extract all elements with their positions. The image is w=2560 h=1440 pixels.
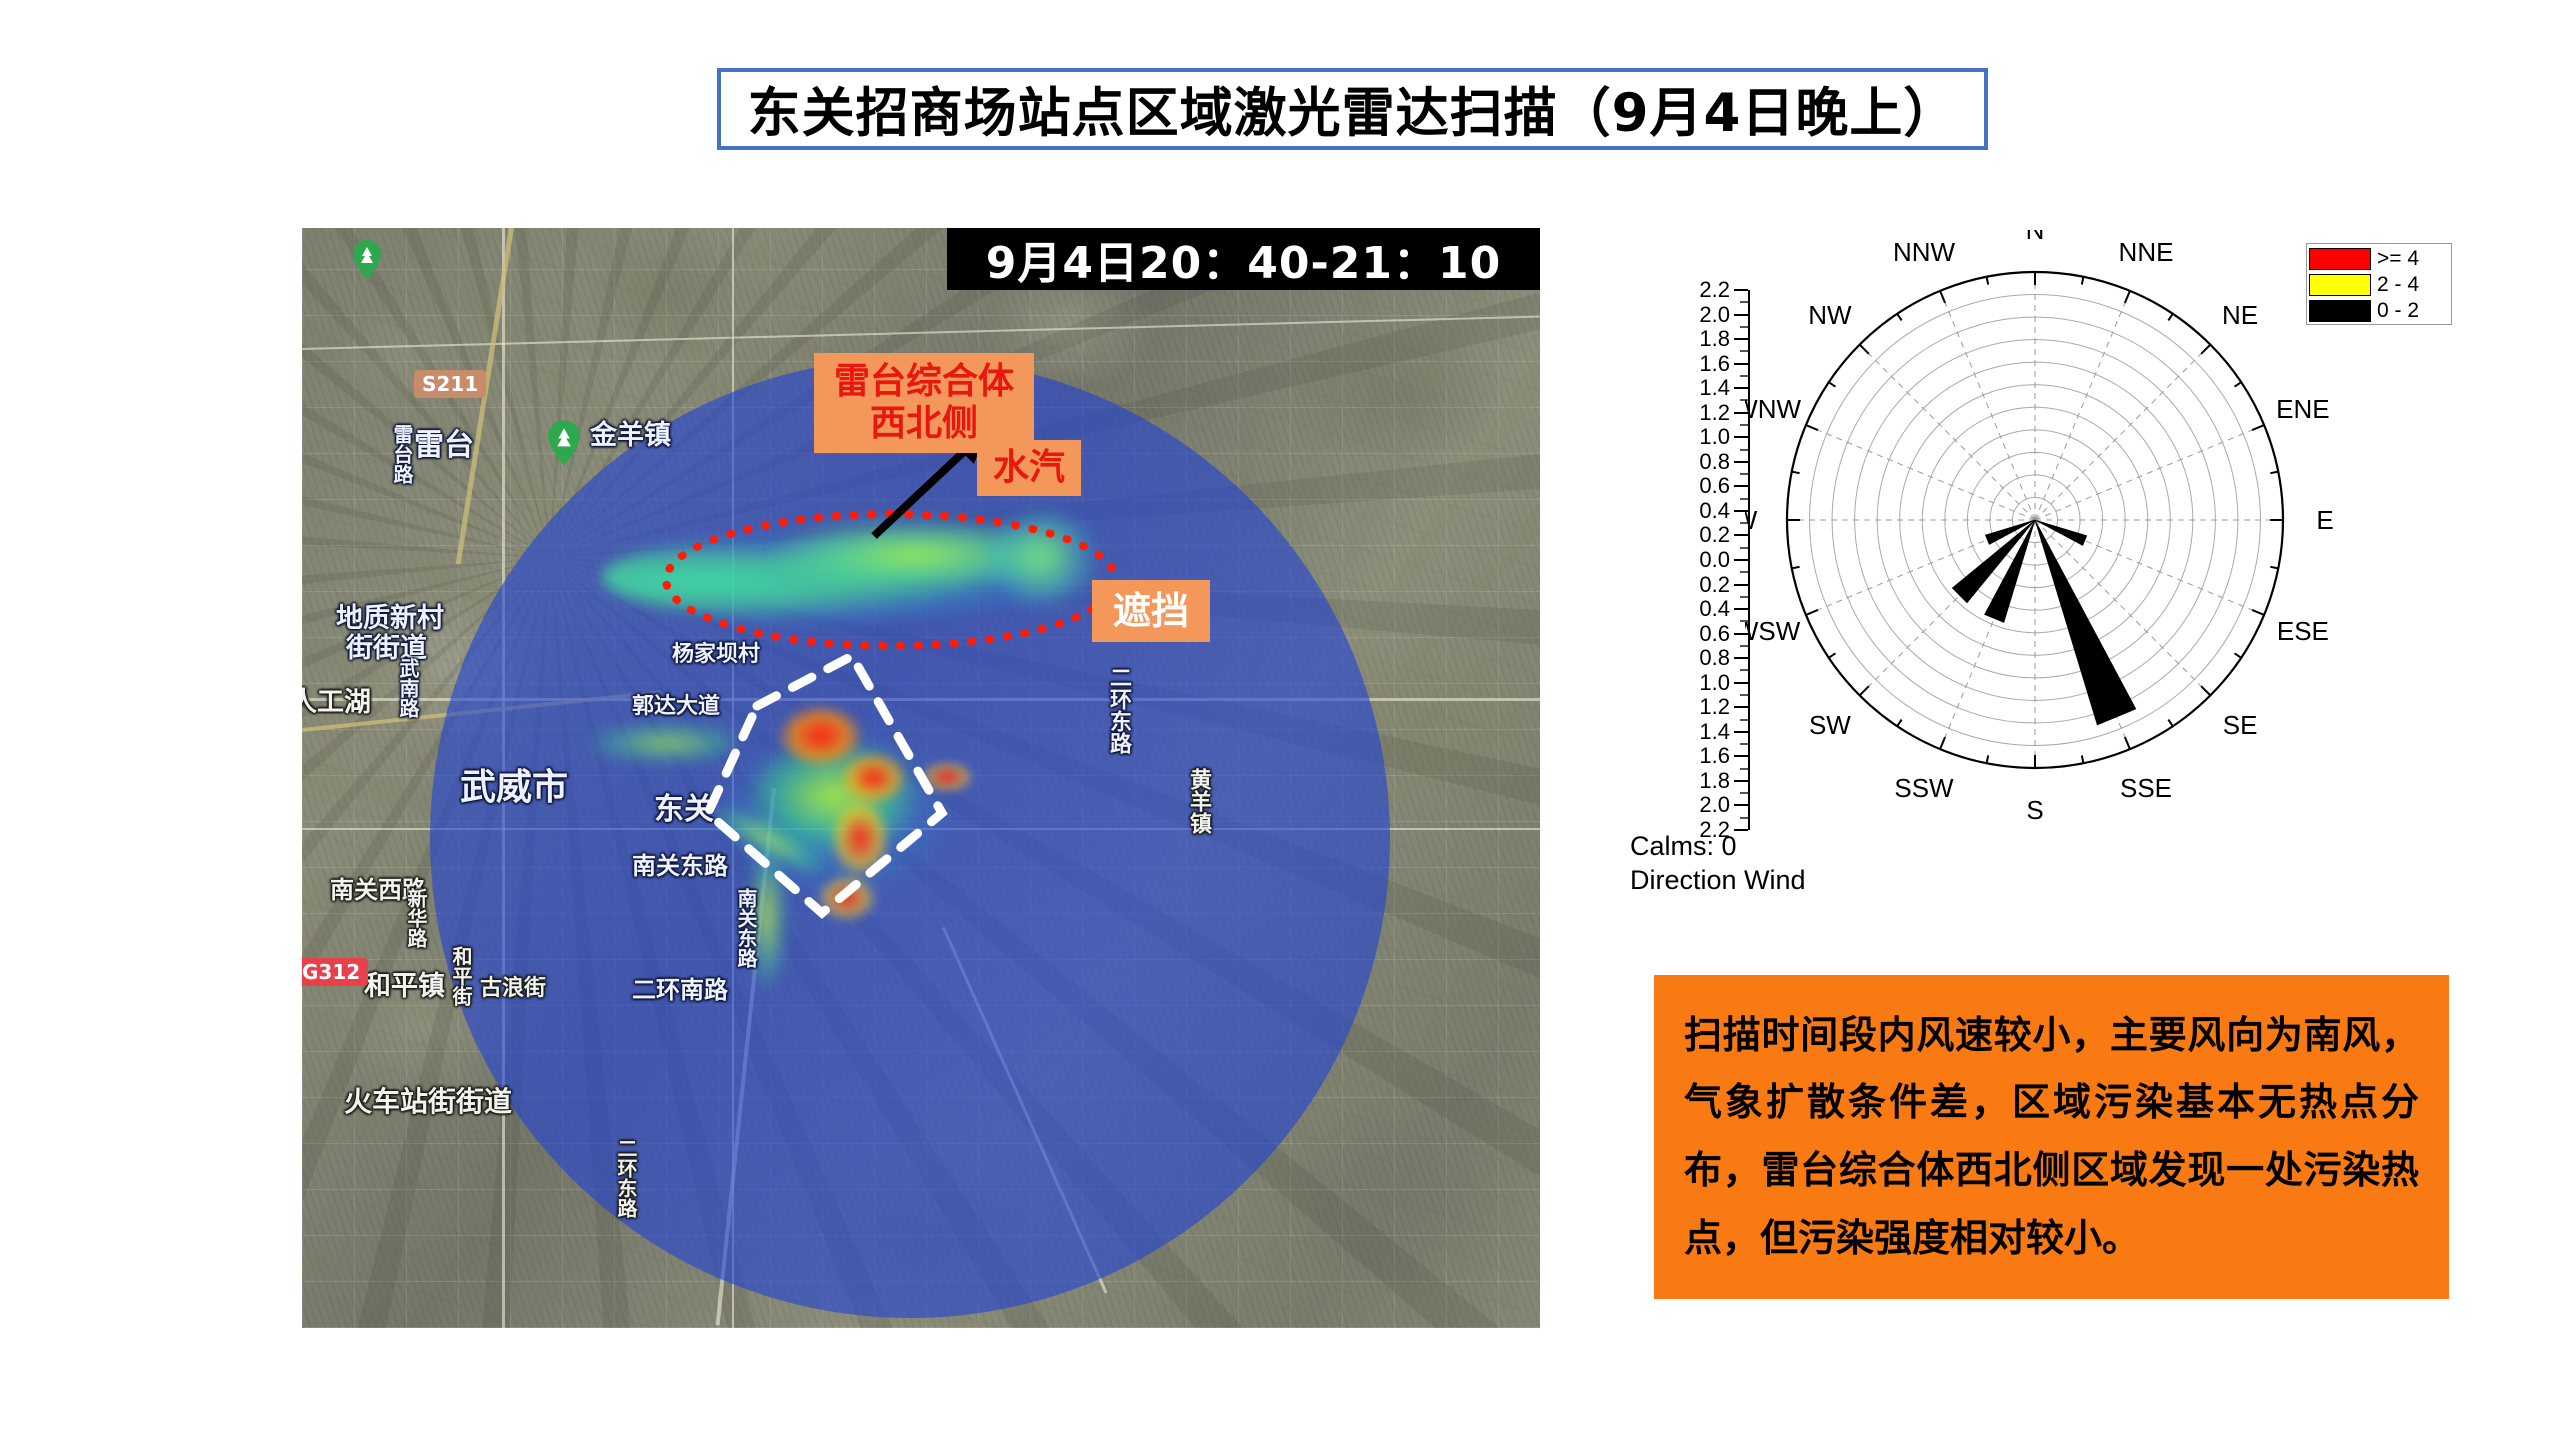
- wind-rose-outer-tick: [2082, 755, 2084, 763]
- compass-label-w: W: [1745, 505, 1758, 535]
- compass-label-sse: SSE: [2120, 773, 2172, 803]
- wind-rose-outer-tick: [1897, 720, 1901, 727]
- radial-axis-tick-label: 0.6: [1660, 621, 1730, 647]
- compass-label-ne: NE: [2222, 300, 2258, 330]
- compass-label-nne: NNE: [2119, 237, 2174, 267]
- wind-rose-outer-tick: [2235, 653, 2242, 657]
- compass-label-se: SE: [2223, 710, 2258, 740]
- wind-rose-outer-tick: [1806, 425, 1818, 430]
- wind-rose-outer-tick: [1792, 472, 1800, 474]
- wind-rose-outer-tick: [2125, 737, 2130, 749]
- compass-label-ene: ENE: [2276, 394, 2329, 424]
- callout-leitai-line2: 西北侧: [870, 403, 978, 445]
- conclusion-text: 扫描时间段内风速较小，主要风向为南风，气象扩散条件差，区域污染基本无热点分布，雷…: [1684, 1002, 2419, 1273]
- page-title: 东关招商场站点区域激光雷达扫描（9月4日晚上）: [748, 71, 1958, 147]
- radial-axis-tick-label: 1.2: [1660, 694, 1730, 720]
- obstruction-annotation-polygon: [702, 628, 982, 928]
- radial-axis-tick-label: 1.8: [1660, 326, 1730, 352]
- radial-axis-tick-label: 0.0: [1660, 547, 1730, 573]
- map-route-shield: S211: [414, 370, 486, 398]
- wind-rose-outer-tick: [1897, 314, 1901, 321]
- callout-leitai-line1: 雷台综合体: [834, 361, 1014, 403]
- wind-rose-outer-tick: [2270, 567, 2278, 569]
- wind-rose-outer-tick: [1940, 737, 1945, 749]
- legend-label: 2 - 4: [2377, 273, 2419, 297]
- compass-label-wnw: WNW: [1745, 394, 1801, 424]
- radial-axis-tick-label: 2.2: [1660, 277, 1730, 303]
- wind-rose-outer-tick: [1860, 686, 1869, 695]
- wind-speed-legend: >= 42 - 40 - 2: [2306, 243, 2452, 325]
- compass-label-e: E: [2316, 505, 2333, 535]
- compass-label-s: S: [2026, 795, 2043, 825]
- compass-label-sw: SW: [1809, 710, 1851, 740]
- compass-label-n: N: [2026, 230, 2045, 245]
- legend-label: 0 - 2: [2377, 299, 2419, 323]
- wind-rose-outer-tick: [1829, 382, 1836, 386]
- radial-axis-tick-label: 0.4: [1660, 498, 1730, 524]
- radial-axis-tick-label: 0.6: [1660, 473, 1730, 499]
- legend-color-swatch: [2309, 274, 2371, 296]
- radial-axis-tick-label: 1.6: [1660, 743, 1730, 769]
- compass-label-ese: ESE: [2277, 616, 2329, 646]
- wind-rose-spoke: [1940, 291, 2035, 520]
- legend-item: 0 - 2: [2309, 298, 2449, 324]
- radial-axis-tick-label: 0.2: [1660, 572, 1730, 598]
- wind-rose-outer-tick: [2201, 345, 2210, 354]
- legend-color-swatch: [2309, 300, 2371, 322]
- wind-rose-footnotes: Calms: 0 Direction Wind: [1630, 830, 1806, 898]
- direction-wind-label: Direction Wind: [1630, 864, 1806, 898]
- wind-rose-spoke: [2035, 345, 2210, 520]
- legend-item: 2 - 4: [2309, 272, 2449, 298]
- wind-rose-outer-tick: [2235, 382, 2242, 386]
- radial-axis-tick-label: 1.6: [1660, 351, 1730, 377]
- park-pin-icon: [352, 240, 382, 280]
- wind-rose-outer-tick: [2201, 686, 2210, 695]
- radial-axis-tick-label: 0.2: [1660, 522, 1730, 548]
- wind-rose-outer-tick: [1860, 345, 1869, 354]
- wind-rose-outer-tick: [2125, 291, 2130, 303]
- scan-timestamp-banner: 9月4日20：40-21：10: [947, 228, 1540, 290]
- wind-rose-outer-tick: [2252, 610, 2264, 615]
- wind-rose-petal-sse: [2035, 520, 2136, 725]
- wind-rose-outer-tick: [1987, 277, 1989, 285]
- callout-obstruction: 遮挡: [1092, 580, 1210, 642]
- wind-rose-outer-tick: [2270, 472, 2278, 474]
- callout-water-vapor-label: 水汽: [993, 447, 1065, 489]
- wind-rose-outer-tick: [2168, 720, 2172, 727]
- wind-rose-spoke: [2035, 520, 2210, 695]
- legend-color-swatch: [2309, 248, 2371, 270]
- legend-label: >= 4: [2377, 247, 2419, 271]
- callout-obstruction-label: 遮挡: [1113, 589, 1189, 634]
- calms-label: Calms: 0: [1630, 830, 1806, 864]
- compass-label-wsw: WSW: [1745, 616, 1801, 646]
- wind-rose-spoke: [1860, 345, 2035, 520]
- radial-axis-tick-label: 0.4: [1660, 596, 1730, 622]
- wind-rose-outer-tick: [2252, 425, 2264, 430]
- conclusion-box: 扫描时间段内风速较小，主要风向为南风，气象扩散条件差，区域污染基本无热点分布，雷…: [1654, 975, 2449, 1299]
- wind-rose-spoke: [1806, 425, 2035, 520]
- wind-rose-outer-tick: [1987, 755, 1989, 763]
- wind-rose-outer-tick: [1940, 291, 1945, 303]
- wind-rose-spoke: [2035, 291, 2130, 520]
- radial-axis-tick-label: 0.8: [1660, 449, 1730, 475]
- map-route-shield: G312: [302, 958, 368, 986]
- callout-water-vapor: 水汽: [977, 440, 1081, 496]
- radial-axis-tick-label: 2.0: [1660, 792, 1730, 818]
- compass-label-nnw: NNW: [1893, 237, 1956, 267]
- compass-label-nw: NW: [1808, 300, 1852, 330]
- radial-axis-tick-label: 1.0: [1660, 670, 1730, 696]
- wind-rose-panel: 2.22.01.81.61.41.21.00.80.60.40.20.00.20…: [1630, 230, 2510, 930]
- compass-label-ssw: SSW: [1894, 773, 1954, 803]
- wind-rose-outer-tick: [1806, 610, 1818, 615]
- radial-axis-tick-label: 1.2: [1660, 400, 1730, 426]
- wind-rose-spoke: [2035, 425, 2264, 520]
- radial-axis-tick-label: 2.0: [1660, 302, 1730, 328]
- wind-rose-outer-tick: [1829, 653, 1836, 657]
- legend-item: >= 4: [2309, 246, 2449, 272]
- callout-leitai-northwest: 雷台综合体 西北侧: [814, 353, 1034, 453]
- wind-rose-outer-tick: [1792, 567, 1800, 569]
- radial-axis-tick-label: 1.4: [1660, 719, 1730, 745]
- radial-axis-tick-label: 0.8: [1660, 645, 1730, 671]
- wind-rose-outer-tick: [2168, 314, 2172, 321]
- park-pin-icon: [547, 420, 581, 466]
- radial-axis-tick-label: 1.4: [1660, 375, 1730, 401]
- slide-title-box: 东关招商场站点区域激光雷达扫描（9月4日晚上）: [717, 68, 1988, 150]
- radial-axis-tick-label: 1.8: [1660, 768, 1730, 794]
- wind-rose-chart: NNNENEENEEESESESSESSSWSWWSWWWNWNWNNW: [1745, 230, 2365, 850]
- wind-rose-outer-tick: [2082, 277, 2084, 285]
- radial-axis-tick-label: 1.0: [1660, 424, 1730, 450]
- lidar-scan-map: 雷台金羊镇S211地质新村街街道人工湖武威市东关杨家坝村郭达大道发放镇南关西路和…: [302, 228, 1540, 1328]
